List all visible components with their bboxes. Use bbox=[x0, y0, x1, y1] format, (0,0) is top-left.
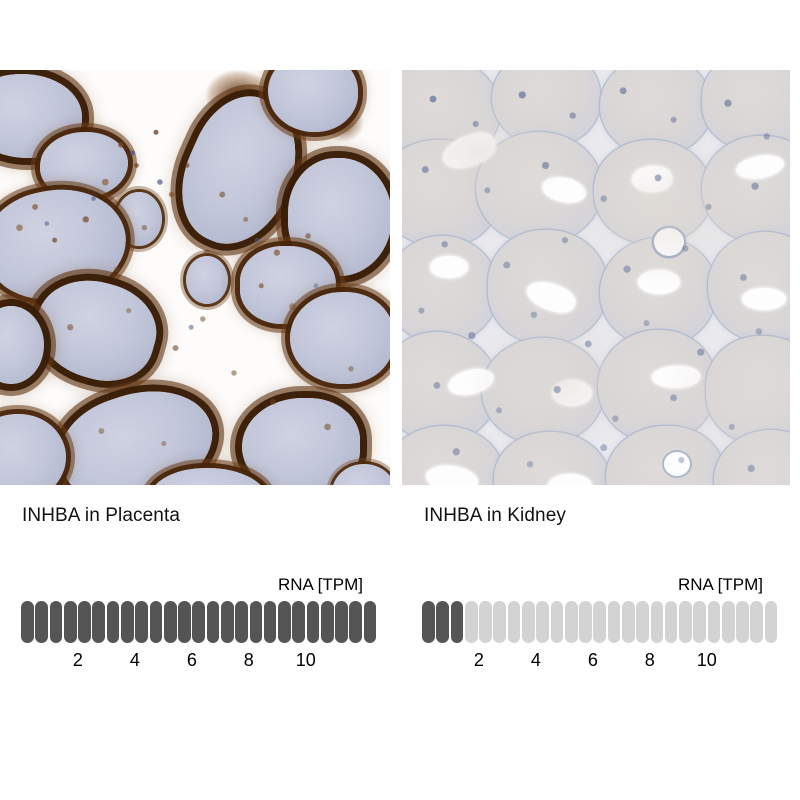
gauge-segment-empty bbox=[765, 601, 778, 643]
gauge-segment-empty bbox=[579, 601, 592, 643]
rna-gauge-kidney[interactable] bbox=[422, 601, 777, 643]
axis-tick-label: 8 bbox=[645, 650, 655, 671]
gauge-segment-empty bbox=[636, 601, 649, 643]
axis-tick-label: 2 bbox=[73, 650, 83, 671]
gauge-segment-empty bbox=[536, 601, 549, 643]
rna-axis-label-kidney: RNA [TPM] bbox=[678, 575, 763, 595]
gauge-segment-filled bbox=[121, 601, 134, 643]
gauge-segment-filled bbox=[192, 601, 205, 643]
gauge-segment-filled bbox=[349, 601, 362, 643]
gauge-segment-empty bbox=[722, 601, 735, 643]
gauge-segment-empty bbox=[622, 601, 635, 643]
rna-axis-label-placenta: RNA [TPM] bbox=[278, 575, 363, 595]
gauge-segment-filled bbox=[335, 601, 348, 643]
hematoxylin-nuclei bbox=[402, 70, 790, 485]
gauge-segment-filled bbox=[78, 601, 91, 643]
gauge-segment-filled bbox=[135, 601, 148, 643]
gauge-segment-filled bbox=[207, 601, 220, 643]
gauge-segment-filled bbox=[107, 601, 120, 643]
axis-tick-label: 10 bbox=[296, 650, 316, 671]
gauge-segment-empty bbox=[736, 601, 749, 643]
gauge-segment-filled bbox=[235, 601, 248, 643]
gauge-segment-filled bbox=[321, 601, 334, 643]
gauge-segment-empty bbox=[651, 601, 664, 643]
gauge-segment-empty bbox=[522, 601, 535, 643]
axis-tick-label: 10 bbox=[697, 650, 717, 671]
gauge-segment-filled bbox=[35, 601, 48, 643]
gauge-segment-filled bbox=[292, 601, 305, 643]
gauge-segment-filled bbox=[422, 601, 435, 643]
gauge-segment-filled bbox=[250, 601, 263, 643]
axis-tick-label: 8 bbox=[244, 650, 254, 671]
gauge-segment-filled bbox=[64, 601, 77, 643]
gauge-segment-empty bbox=[693, 601, 706, 643]
panel-placenta[interactable] bbox=[0, 70, 390, 485]
rna-gauge-placenta[interactable] bbox=[21, 601, 376, 643]
gauge-segment-empty bbox=[493, 601, 506, 643]
kidney-ihc-micrograph[interactable] bbox=[402, 70, 790, 485]
gauge-segment-empty bbox=[665, 601, 678, 643]
gauge-segment-filled bbox=[436, 601, 449, 643]
page-title-kidney: INHBA in Kidney bbox=[424, 505, 566, 527]
gauge-segment-filled bbox=[21, 601, 34, 643]
axis-tick-label: 2 bbox=[474, 650, 484, 671]
placenta-ihc-micrograph[interactable] bbox=[0, 70, 390, 485]
gauge-segment-empty bbox=[551, 601, 564, 643]
axis-tick-label: 6 bbox=[187, 650, 197, 671]
gauge-segment-empty bbox=[565, 601, 578, 643]
axis-tick-label: 4 bbox=[531, 650, 541, 671]
axis-tick-label: 4 bbox=[130, 650, 140, 671]
gauge-segment-filled bbox=[92, 601, 105, 643]
gauge-segment-filled bbox=[164, 601, 177, 643]
page-title-placenta: INHBA in Placenta bbox=[22, 505, 180, 527]
gauge-segment-filled bbox=[50, 601, 63, 643]
gauge-segment-filled bbox=[264, 601, 277, 643]
gauge-segment-filled bbox=[178, 601, 191, 643]
hematoxylin-nuclei bbox=[0, 70, 390, 485]
gauge-segment-filled bbox=[150, 601, 163, 643]
gauge-segment-empty bbox=[465, 601, 478, 643]
gauge-segment-empty bbox=[679, 601, 692, 643]
gauge-segment-filled bbox=[364, 601, 377, 643]
axis-tick-label: 6 bbox=[588, 650, 598, 671]
gauge-segment-empty bbox=[608, 601, 621, 643]
gauge-segment-empty bbox=[708, 601, 721, 643]
gauge-segment-filled bbox=[451, 601, 464, 643]
gauge-segment-empty bbox=[593, 601, 606, 643]
gauge-segment-filled bbox=[221, 601, 234, 643]
gauge-segment-empty bbox=[479, 601, 492, 643]
gauge-segment-filled bbox=[307, 601, 320, 643]
panel-kidney[interactable] bbox=[402, 70, 790, 485]
page-root: INHBA in Placenta INHBA in Kidney RNA [T… bbox=[0, 0, 800, 800]
gauge-segment-empty bbox=[508, 601, 521, 643]
gauge-segment-empty bbox=[750, 601, 763, 643]
gauge-segment-filled bbox=[278, 601, 291, 643]
